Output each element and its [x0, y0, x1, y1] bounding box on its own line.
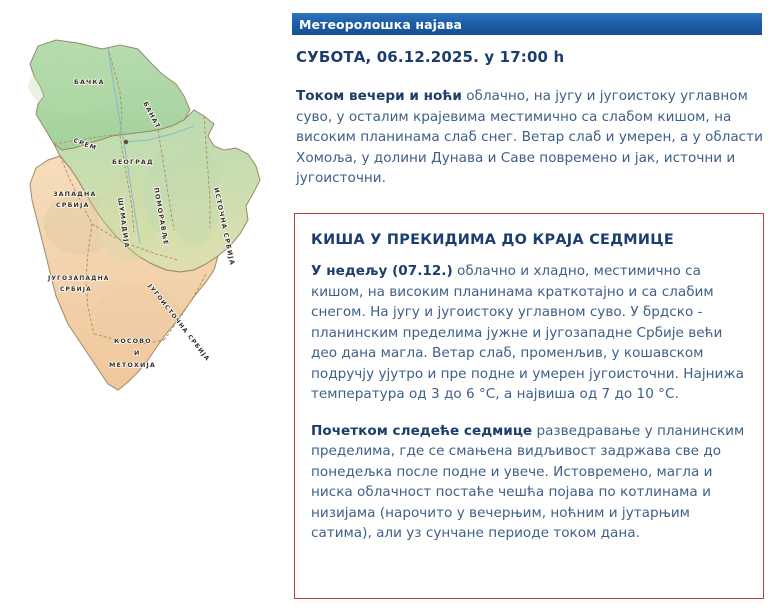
- highlight-paragraph-sunday-emphasis: У недељу (07.12.): [311, 263, 453, 279]
- forecast-titlebar: Метеоролошка најава: [288, 13, 762, 35]
- map-region-label: СРБИЈА: [60, 286, 92, 293]
- highlight-paragraph-sunday: У недељу (07.12.) облачно и хладно, мест…: [311, 261, 749, 405]
- map-region-label: ЗАПАДНА: [53, 190, 96, 198]
- forecast-date-line: СУБОТА, 06.12.2025. у 17:00 h: [296, 48, 756, 66]
- highlight-box-title: КИША У ПРЕКИДИМА ДО КРАЈА СЕДМИЦЕ: [311, 232, 749, 248]
- map-region-label: БЕОГРАД: [112, 158, 154, 166]
- belgrade-marker: [124, 140, 128, 144]
- forecast-text-pane: Метеоролошка најава СУБОТА, 06.12.2025. …: [288, 0, 770, 612]
- weather-forecast-page: БАЧКАБАНАТСРЕМБЕОГРАДЗАПАДНАСРБИЈАШУМАДИ…: [0, 0, 770, 612]
- highlight-paragraph-nextweek-emphasis: Почетком следеће седмице: [311, 423, 532, 439]
- map-pane: БАЧКАБАНАТСРЕМБЕОГРАДЗАПАДНАСРБИЈАШУМАДИ…: [0, 0, 288, 612]
- map-region-label: СРБИЈА: [56, 201, 90, 209]
- serbia-map-svg: БАЧКАБАНАТСРЕМБЕОГРАДЗАПАДНАСРБИЈАШУМАДИ…: [8, 18, 280, 398]
- forecast-lead-paragraph: Током вечери и ноћи облачно, на југу и ј…: [296, 86, 764, 189]
- map-region-label: МЕТОХИЈА: [109, 361, 156, 369]
- highlight-paragraph-nextweek: Почетком следеће седмице разведравање у …: [311, 421, 749, 544]
- serbia-map: БАЧКАБАНАТСРЕМБЕОГРАДЗАПАДНАСРБИЈАШУМАДИ…: [8, 18, 280, 398]
- map-region-label: И: [134, 349, 140, 357]
- map-region-label: БАЧКА: [74, 78, 105, 86]
- lead-paragraph-emphasis: Током вечери и ноћи: [296, 88, 462, 104]
- map-region-label: ЈУГОЗАПАДНА: [47, 275, 109, 282]
- highlight-paragraph-nextweek-body: разведравање у планинским пределима, где…: [311, 423, 744, 542]
- highlight-box: КИША У ПРЕКИДИМА ДО КРАЈА СЕДМИЦЕ У неде…: [294, 213, 764, 599]
- page-title: Метеоролошка најава: [292, 17, 462, 32]
- highlight-paragraph-sunday-body: облачно и хладно, местимично са кишом, н…: [311, 263, 744, 402]
- map-region-label: КОСОВО: [114, 337, 152, 345]
